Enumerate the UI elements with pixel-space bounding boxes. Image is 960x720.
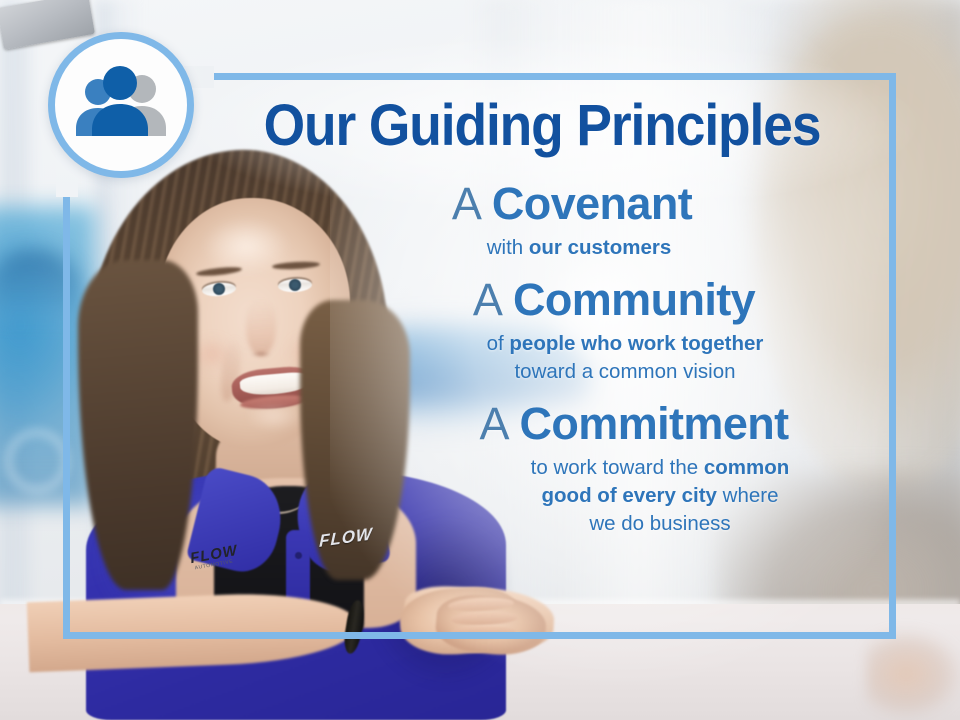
principle-subtext-commitment: to work toward the commongood of every c… <box>372 454 896 539</box>
principle-subtext-community: of people who work together toward a com… <box>332 330 896 387</box>
principles-list: A Covenant with our customers A Communit… <box>300 180 896 553</box>
principle-keyword: Commitment <box>520 398 789 449</box>
principle-commitment: A Commitment to work toward the commongo… <box>300 400 896 539</box>
subtext-plain-third-line: we do business <box>589 512 730 535</box>
subtext-emphasis-second: good of every city <box>542 484 717 507</box>
banner-stage: FLOW AUTOMOTIVE FLOW Our Guiding Princip… <box>0 0 960 720</box>
face-nostrils <box>248 350 274 358</box>
principle-covenant: A Covenant with our customers <box>300 180 896 262</box>
page-title: Our Guiding Principles <box>238 92 845 159</box>
face-iris-left <box>213 283 225 295</box>
principle-keyword: Covenant <box>492 178 692 229</box>
subtext-emphasis: common <box>704 456 789 479</box>
subtext-plain: with <box>487 236 529 259</box>
polo-button-upper <box>295 552 302 559</box>
principle-keyword: Community <box>513 274 755 325</box>
principle-article: A <box>473 274 501 325</box>
principle-article: A <box>479 398 507 449</box>
subtext-plain-second-line: toward a common vision <box>514 360 735 383</box>
subtext-emphasis: our customers <box>529 236 671 259</box>
subtext-emphasis: people who work together <box>509 332 763 355</box>
subtext-plain: of <box>487 332 510 355</box>
principle-subtext-covenant: with our customers <box>300 234 844 262</box>
principle-article: A <box>452 178 480 229</box>
principle-headline-community: A Community <box>332 276 896 324</box>
face-nose <box>246 300 276 356</box>
principle-headline-commitment: A Commitment <box>372 400 896 448</box>
subtext-plain: to work toward the <box>531 456 704 479</box>
principle-community: A Community of people who work together … <box>300 276 896 386</box>
subtext-plain-tail: where <box>717 484 779 507</box>
blurred-vw-logo-ring <box>6 430 68 492</box>
people-group-icon <box>48 32 194 178</box>
principle-headline-covenant: A Covenant <box>300 180 844 228</box>
